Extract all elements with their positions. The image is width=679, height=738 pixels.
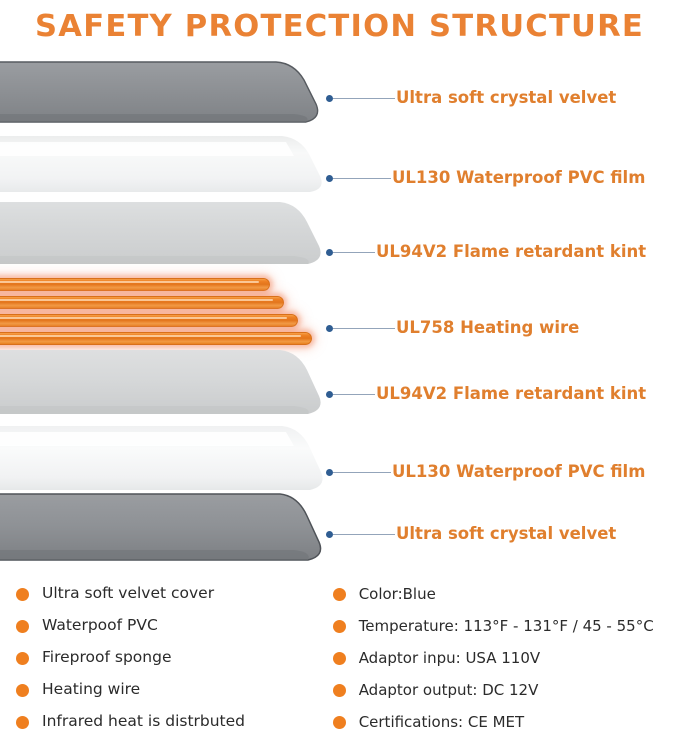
list-item: Temperature: 113°F - 131°F / 45 - 55°C bbox=[333, 610, 679, 642]
list-item: Waterpoof PVC bbox=[16, 610, 325, 642]
heating-wire-strand bbox=[0, 314, 298, 327]
callout-label: UL130 Waterproof PVC film bbox=[392, 170, 645, 187]
layer-heating-wire bbox=[0, 278, 334, 348]
callout-leader-line bbox=[333, 178, 391, 179]
layer-stack-diagram: Ultra soft crystal velvet UL130 Waterpro… bbox=[0, 52, 679, 568]
callout-dot-icon bbox=[326, 175, 333, 182]
bullet-dot-icon bbox=[333, 588, 346, 601]
page-title: SAFETY PROTECTION STRUCTURE bbox=[35, 9, 644, 44]
callout-label: UL94V2 Flame retardant kint bbox=[376, 386, 646, 403]
list-item: Adaptor inpu: USA 110V bbox=[333, 642, 679, 674]
list-item: Ultra soft velvet cover bbox=[16, 578, 325, 610]
spec-text: Adaptor output: DC 12V bbox=[359, 683, 539, 698]
bullet-dot-icon bbox=[16, 684, 29, 697]
callout-heating-wire: UL758 Heating wire bbox=[326, 318, 579, 338]
velvet-slab-top bbox=[0, 60, 324, 132]
callout-leader-line bbox=[333, 328, 395, 329]
pvc-slab-top bbox=[0, 134, 328, 200]
spec-text: Fireproof sponge bbox=[42, 650, 171, 666]
layer-knit-bottom bbox=[0, 344, 328, 424]
callout-velvet-top: Ultra soft crystal velvet bbox=[326, 88, 616, 108]
spec-lists: Ultra soft velvet cover Waterpoof PVC Fi… bbox=[0, 578, 679, 738]
list-item: Color:Blue bbox=[333, 578, 679, 610]
page-title-bar: SAFETY PROTECTION STRUCTURE bbox=[0, 0, 679, 52]
bullet-dot-icon bbox=[333, 620, 346, 633]
list-item: Fireproof sponge bbox=[16, 642, 325, 674]
layer-knit-top bbox=[0, 198, 328, 274]
layer-velvet-bottom bbox=[0, 490, 328, 566]
bullet-dot-icon bbox=[333, 684, 346, 697]
callout-leader-line bbox=[333, 98, 395, 99]
callout-label: UL758 Heating wire bbox=[396, 320, 579, 337]
heating-wire-strand bbox=[0, 278, 270, 291]
callout-velvet-bottom: Ultra soft crystal velvet bbox=[326, 524, 616, 544]
callout-label: UL130 Waterproof PVC film bbox=[392, 464, 645, 481]
bullet-dot-icon bbox=[16, 652, 29, 665]
spec-text: Certifications: CE MET bbox=[359, 715, 524, 730]
bullet-dot-icon bbox=[16, 716, 29, 729]
list-item: Certifications: CE MET bbox=[333, 706, 679, 738]
spec-text: Ultra soft velvet cover bbox=[42, 586, 214, 602]
callout-label: UL94V2 Flame retardant kint bbox=[376, 244, 646, 261]
bullet-dot-icon bbox=[16, 620, 29, 633]
heating-wire-strand bbox=[0, 296, 284, 309]
pvc-slab-bottom bbox=[0, 422, 328, 498]
callout-label: Ultra soft crystal velvet bbox=[396, 90, 616, 107]
spec-text: Adaptor inpu: USA 110V bbox=[359, 651, 540, 666]
callout-knit-top: UL94V2 Flame retardant kint bbox=[326, 242, 646, 262]
layer-velvet-top bbox=[0, 60, 324, 132]
layer-pvc-top bbox=[0, 134, 328, 200]
list-item: Heating wire bbox=[16, 674, 325, 706]
callout-leader-line bbox=[333, 534, 395, 535]
list-item: Adaptor output: DC 12V bbox=[333, 674, 679, 706]
callout-pvc-bottom: UL130 Waterproof PVC film bbox=[326, 462, 645, 482]
bullet-dot-icon bbox=[333, 652, 346, 665]
knit-slab-top bbox=[0, 198, 328, 274]
bullet-dot-icon bbox=[16, 588, 29, 601]
list-item: Infrared heat is distrbuted bbox=[16, 706, 325, 738]
spec-list-parameters: Color:Blue Temperature: 113°F - 131°F / … bbox=[325, 578, 679, 738]
callout-leader-line bbox=[333, 394, 375, 395]
callout-dot-icon bbox=[326, 249, 333, 256]
bullet-dot-icon bbox=[333, 716, 346, 729]
callout-dot-icon bbox=[326, 391, 333, 398]
spec-text: Heating wire bbox=[42, 682, 140, 698]
spec-list-features: Ultra soft velvet cover Waterpoof PVC Fi… bbox=[0, 578, 325, 738]
spec-text: Temperature: 113°F - 131°F / 45 - 55°C bbox=[359, 619, 654, 634]
callout-dot-icon bbox=[326, 531, 333, 538]
velvet-slab-bottom bbox=[0, 490, 328, 566]
knit-slab-bottom bbox=[0, 344, 328, 424]
callout-label: Ultra soft crystal velvet bbox=[396, 526, 616, 543]
callout-knit-bottom: UL94V2 Flame retardant kint bbox=[326, 384, 646, 404]
spec-text: Color:Blue bbox=[359, 587, 436, 602]
callout-pvc-top: UL130 Waterproof PVC film bbox=[326, 168, 645, 188]
spec-text: Waterpoof PVC bbox=[42, 618, 158, 634]
callout-leader-line bbox=[333, 472, 391, 473]
spec-text: Infrared heat is distrbuted bbox=[42, 714, 245, 730]
layer-pvc-bottom bbox=[0, 422, 328, 498]
callout-dot-icon bbox=[326, 325, 333, 332]
callout-leader-line bbox=[333, 252, 375, 253]
callout-dot-icon bbox=[326, 469, 333, 476]
callout-dot-icon bbox=[326, 95, 333, 102]
